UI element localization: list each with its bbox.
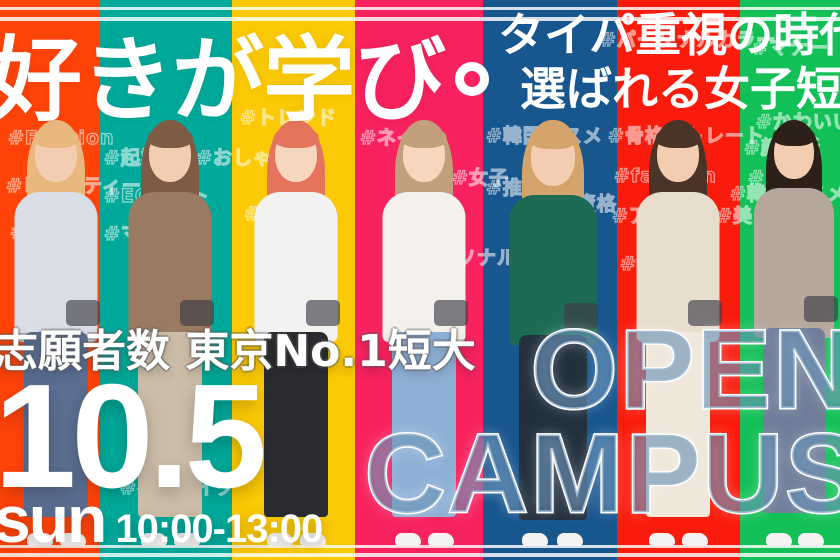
band-rule-bottom2 <box>617 553 740 557</box>
open-campus-poster: #Fashion#ビューティー#ネイル#起業#ECサイト#マーケ#おしゃれ#ヘア… <box>0 0 840 560</box>
band-rule-bottom <box>483 545 617 548</box>
band-rule-bottom2 <box>355 553 483 557</box>
event-time: 10:00-13:00 <box>115 507 322 552</box>
band-rule-bottom2 <box>100 553 232 557</box>
band-rule-bottom2 <box>740 553 840 557</box>
headline-period-icon <box>455 62 489 96</box>
event-day-of-week: sun <box>0 486 105 552</box>
band-rule-bottom2 <box>483 553 617 557</box>
event-date-row: 10.5 <box>0 373 476 500</box>
band-rule-bottom <box>740 545 840 548</box>
band-rule-bottom <box>617 545 740 548</box>
headline-sub: タイパ重視の時代、 選ばれる女子短大 <box>498 8 840 117</box>
headline-main: 好きが学び <box>0 6 445 139</box>
event-info-block: 志願者数 東京No.1短大 10.5 sun 10:00-13:00 <box>0 315 476 552</box>
headline-sub-line1: タイパ重視の時代、 <box>498 8 840 62</box>
band-rule-bottom2 <box>232 553 355 557</box>
event-date: 10.5 <box>0 373 262 500</box>
headline-sub-line2: 選ばれる女子短大 <box>520 62 840 116</box>
